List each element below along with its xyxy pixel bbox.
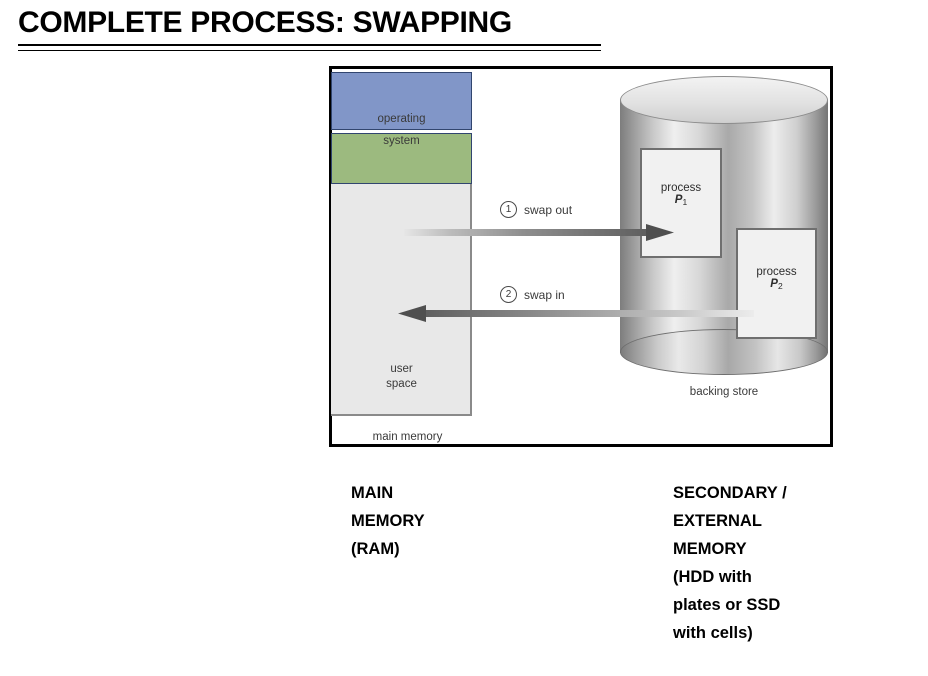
user-space-label-line2: space bbox=[331, 377, 472, 392]
step-2-label: swap in bbox=[524, 288, 565, 302]
caption-secondary-memory: SECONDARY / EXTERNAL MEMORY (HDD with pl… bbox=[673, 479, 787, 647]
process-p2-word: process bbox=[756, 266, 796, 278]
step-swap-in: 2 swap in bbox=[500, 286, 565, 303]
caption-main-memory-line1: MAIN bbox=[351, 479, 425, 507]
title-underline bbox=[18, 44, 601, 51]
caption-secondary-line5: plates or SSD bbox=[673, 591, 787, 619]
main-memory-caption: main memory bbox=[337, 431, 478, 443]
step-1-number-circle: 1 bbox=[500, 201, 517, 218]
process-p1-label: process P1 bbox=[642, 182, 720, 206]
backing-store-label: backing store bbox=[618, 386, 830, 398]
caption-secondary-line6: with cells) bbox=[673, 619, 787, 647]
step-1-label: swap out bbox=[524, 203, 572, 217]
caption-main-memory-line3: (RAM) bbox=[351, 535, 425, 563]
process-p2-label: process P2 bbox=[738, 266, 815, 290]
caption-secondary-line4: (HDD with bbox=[673, 563, 787, 591]
user-space-label-line1: user bbox=[331, 362, 472, 377]
main-memory-block: operating system user space bbox=[331, 72, 472, 426]
caption-secondary-line2: EXTERNAL bbox=[673, 507, 787, 535]
process-p2-subscript: 2 bbox=[778, 281, 783, 291]
swap-out-arrow-icon bbox=[404, 222, 676, 244]
caption-main-memory-line2: MEMORY bbox=[351, 507, 425, 535]
cylinder-top-ellipse bbox=[620, 76, 828, 124]
caption-secondary-line1: SECONDARY / bbox=[673, 479, 787, 507]
step-swap-out: 1 swap out bbox=[500, 201, 572, 218]
caption-main-memory: MAIN MEMORY (RAM) bbox=[351, 479, 425, 563]
page-title: COMPLETE PROCESS: SWAPPING bbox=[18, 6, 512, 40]
process-p2-name: P bbox=[770, 278, 778, 290]
process-p1-word: process bbox=[661, 182, 701, 194]
system-label: system bbox=[331, 135, 472, 147]
step-2-number-circle: 2 bbox=[500, 286, 517, 303]
process-p1-subscript: 1 bbox=[682, 197, 687, 207]
swap-in-arrow-icon bbox=[398, 303, 754, 325]
caption-secondary-line3: MEMORY bbox=[673, 535, 787, 563]
operating-label: operating bbox=[331, 113, 472, 125]
user-space-label: user space bbox=[331, 362, 472, 392]
